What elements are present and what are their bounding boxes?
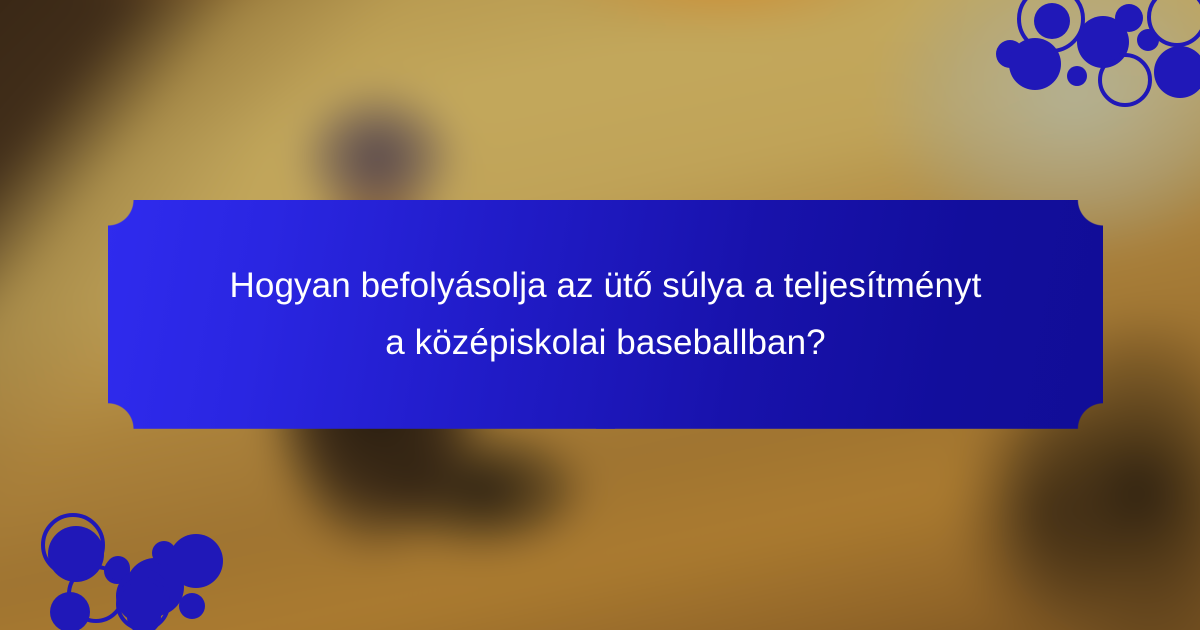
social-card: Hogyan befolyásolja az ütő súlya a telje…: [0, 0, 1200, 630]
title-banner: Hogyan befolyásolja az ütő súlya a telje…: [108, 200, 1103, 429]
page-title: Hogyan befolyásolja az ütő súlya a telje…: [192, 258, 1020, 371]
